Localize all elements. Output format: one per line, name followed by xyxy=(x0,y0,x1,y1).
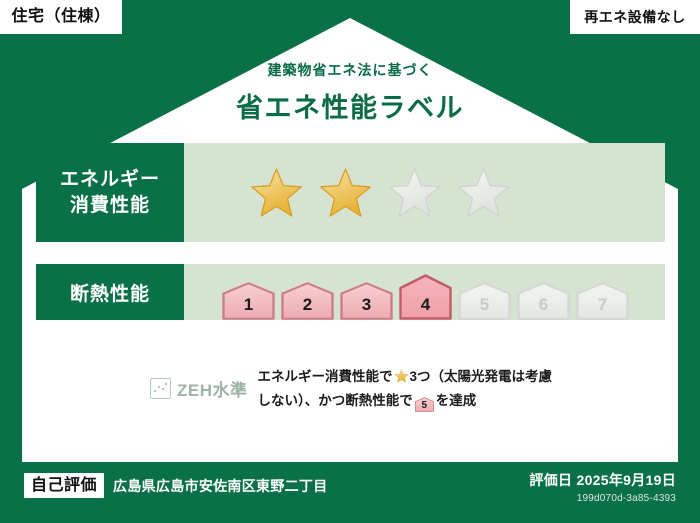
insulation-grade-item: 1 xyxy=(222,282,275,320)
insulation-grade-value: 6 xyxy=(539,295,548,315)
star-rating xyxy=(184,143,665,242)
zeh-desc-part1: エネルギー消費性能で xyxy=(258,369,393,384)
zeh-description: エネルギー消費性能で3つ（太陽光発電は考慮しない）、かつ断熱性能で5を達成 xyxy=(258,366,558,412)
insulation-grade-item: 2 xyxy=(281,282,334,320)
insulation-performance-row: 断熱性能 1234567 xyxy=(36,264,665,320)
zeh-badge-label: ZEH水準 xyxy=(177,376,248,401)
energy-performance-row: エネルギー 消費性能 xyxy=(36,143,665,242)
inline-grade-badge: 5 xyxy=(415,397,434,412)
energy-performance-label-box: エネルギー 消費性能 xyxy=(36,143,184,242)
insulation-performance-label-box: 断熱性能 xyxy=(36,264,184,320)
inline-grade-value: 5 xyxy=(415,397,434,414)
insulation-grade-value: 1 xyxy=(244,295,253,315)
building-type-tag: 住宅（住棟） xyxy=(0,0,122,34)
insulation-grade-current: 4 xyxy=(399,274,452,320)
insulation-grade-item: 6 xyxy=(517,282,570,320)
energy-performance-label-line2: 消費性能 xyxy=(70,193,150,219)
insulation-grade-value: 2 xyxy=(303,295,312,315)
insulation-grade-item: 3 xyxy=(340,282,393,320)
insulation-grade-item: 5 xyxy=(458,282,511,320)
insulation-grade-value: 4 xyxy=(421,295,430,315)
assessment-type-badge: 自己評価 xyxy=(24,473,104,498)
zeh-icon xyxy=(150,378,171,399)
star-empty-icon xyxy=(457,167,510,218)
insulation-grade-scale: 1234567 xyxy=(184,264,665,320)
renewable-energy-tag-label: 再エネ設備なし xyxy=(584,10,686,24)
insulation-grade-value: 7 xyxy=(598,295,607,315)
assessment-info: 自己評価 広島県広島市安佐南区東野二丁目 xyxy=(24,473,328,498)
insulation-grade-item: 7 xyxy=(576,282,629,320)
evaluation-date: 評価日 2025年9月19日 xyxy=(529,470,676,490)
page-subtitle: 建築物省エネ法に基づく xyxy=(0,60,700,80)
zeh-desc-star-count: 3つ（太陽光発電 xyxy=(410,369,512,384)
zeh-desc-part3: を達成 xyxy=(436,393,477,408)
property-address: 広島県広島市安佐南区東野二丁目 xyxy=(113,476,328,496)
footer: 自己評価 広島県広島市安佐南区東野二丁目 評価日 2025年9月19日 199d… xyxy=(0,462,700,523)
evaluation-meta: 評価日 2025年9月19日 199d070d-3a85-4393 xyxy=(529,470,676,504)
renewable-energy-tag: 再エネ設備なし xyxy=(570,0,700,34)
zeh-badge: ZEH水準 xyxy=(150,366,248,401)
insulation-grade-value: 3 xyxy=(362,295,371,315)
insulation-performance-label-line1: 断熱性能 xyxy=(70,279,150,306)
inline-star-icon xyxy=(394,368,409,390)
zeh-standard-note: ZEH水準 エネルギー消費性能で3つ（太陽光発電は考慮しない）、かつ断熱性能で5… xyxy=(150,366,558,412)
evaluation-id: 199d070d-3a85-4393 xyxy=(529,493,676,504)
insulation-grade-value: 5 xyxy=(480,295,489,315)
page-title: 建築物省エネ法に基づく 省エネ性能ラベル xyxy=(0,60,700,125)
energy-performance-label-line1: エネルギー xyxy=(60,167,160,193)
star-filled-icon xyxy=(250,167,303,218)
building-type-tag-label: 住宅（住棟） xyxy=(11,9,110,25)
star-empty-icon xyxy=(388,167,441,218)
page-title-main: 省エネ性能ラベル xyxy=(0,86,700,125)
star-filled-icon xyxy=(319,167,372,218)
energy-performance-label: 住宅（住棟） 再エネ設備なし 建築物省エネ法に基づく 省エネ性能ラベル エネルギ… xyxy=(0,0,700,523)
